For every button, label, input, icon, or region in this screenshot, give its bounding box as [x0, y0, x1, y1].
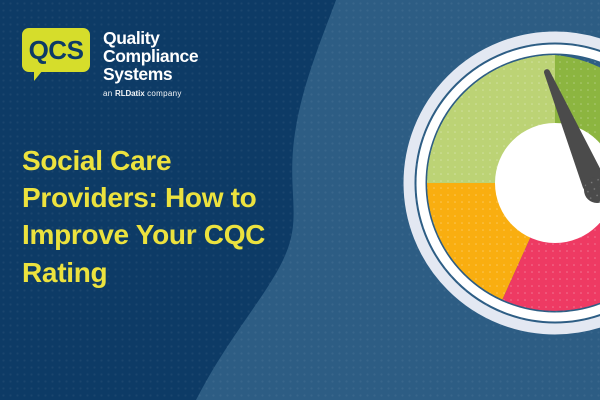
promo-banner: QCS Quality Compliance Systems an RLDati… [0, 0, 600, 400]
rldatix-brandmark: RLDatix [115, 89, 145, 98]
logo-tagline-suffix: company [145, 89, 182, 98]
qcs-logo-initials: QCS [22, 28, 90, 72]
logo-word-quality: Quality [103, 29, 198, 47]
logo-tagline-prefix: an [103, 89, 115, 98]
logo-word-systems: Systems [103, 65, 198, 83]
cqc-rating-gauge [390, 18, 600, 348]
qcs-logo[interactable]: QCS Quality Compliance Systems an RLDati… [22, 28, 198, 98]
qcs-logo-wordmark: Quality Compliance Systems an RLDatix co… [103, 28, 198, 98]
logo-tagline: an RLDatix company [103, 89, 198, 98]
page-title: Social Care Providers: How to Improve Yo… [22, 142, 312, 291]
logo-word-compliance: Compliance [103, 47, 198, 65]
qcs-logo-mark: QCS [22, 28, 90, 80]
